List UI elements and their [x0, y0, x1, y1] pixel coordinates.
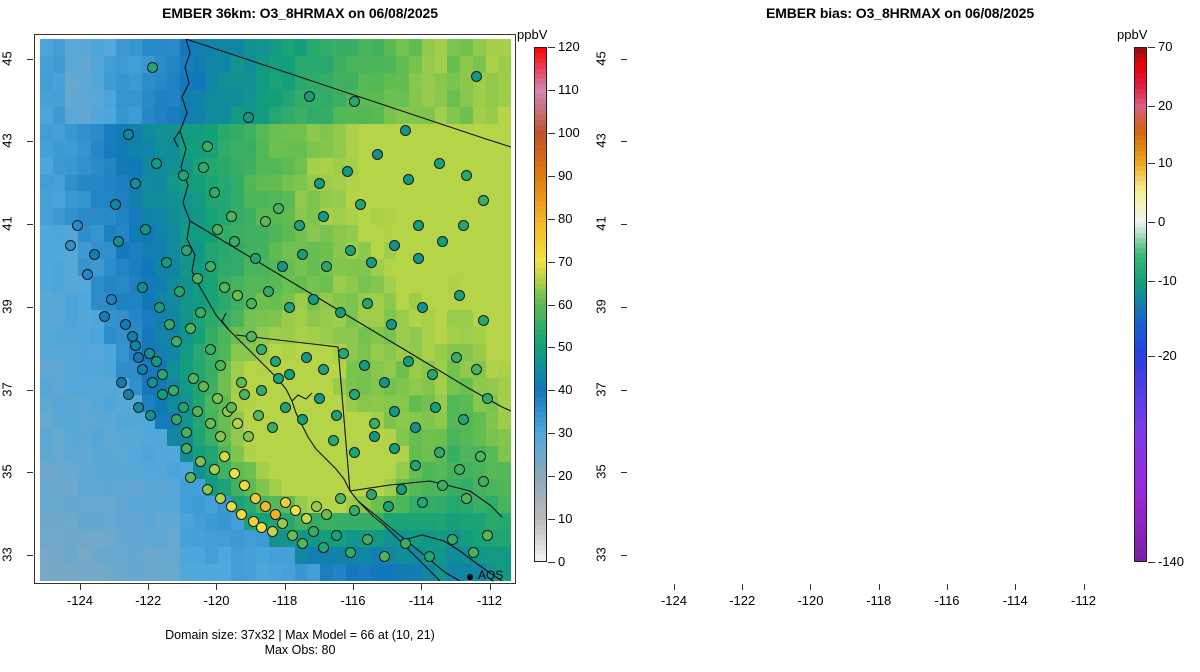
aqs-station-dot	[123, 129, 134, 140]
y-axis-tick	[621, 224, 627, 225]
x-axis-tick	[1084, 584, 1085, 590]
aqs-station-dot	[437, 236, 448, 247]
colorbar-gradient-bias	[1135, 48, 1146, 561]
aqs-station-dot	[434, 158, 445, 169]
aqs-station-dot	[212, 224, 223, 235]
colorbar-unit-model: ppbV	[517, 27, 547, 42]
aqs-station-dot	[219, 282, 230, 293]
aqs-station-dot	[106, 294, 117, 305]
aqs-station-dot	[349, 96, 360, 107]
colorbar-label: 50	[558, 339, 572, 354]
aqs-station-dot	[205, 344, 216, 355]
aqs-station-dot	[458, 220, 469, 231]
aqs-station-dot	[246, 298, 257, 309]
x-axis-label: -116	[323, 593, 383, 608]
aqs-station-dot	[116, 377, 127, 388]
aqs-station-dot	[379, 377, 390, 388]
colorbar-label: 70	[1158, 39, 1172, 54]
aqs-station-dot	[151, 158, 162, 169]
colorbar-tick	[548, 476, 555, 477]
aqs-station-dot	[454, 290, 465, 301]
aqs-station-dot	[154, 302, 165, 313]
colorbar-label: 10	[558, 511, 572, 526]
x-axis-label: -116	[917, 593, 977, 608]
y-axis-tick	[27, 224, 33, 225]
colorbar-tick	[1148, 222, 1155, 223]
colorbar-label: -10	[1158, 273, 1177, 288]
colorbar-label: 60	[558, 297, 572, 312]
y-axis-tick	[27, 472, 33, 473]
aqs-station-dot	[349, 447, 360, 458]
aqs-station-dot	[304, 91, 315, 102]
y-axis-tick	[27, 390, 33, 391]
aqs-station-dot	[400, 538, 411, 549]
aqs-station-dot	[120, 319, 131, 330]
aqs-station-dot	[410, 460, 421, 471]
caption-model-line2: Max Obs: 80	[0, 643, 600, 658]
y-axis-tick	[621, 307, 627, 308]
aqs-station-dot	[475, 451, 486, 462]
aqs-station-dot	[403, 174, 414, 185]
aqs-station-dot	[192, 406, 203, 417]
aqs-station-dot	[461, 493, 472, 504]
y-axis-label: 33	[0, 537, 15, 573]
colorbar-segment	[1135, 555, 1146, 560]
aqs-station-dot	[413, 220, 424, 231]
aqs-station-dot	[212, 393, 223, 404]
aqs-station-dot	[277, 518, 288, 529]
caption-model-line1: Domain size: 37x32 | Max Model = 66 at (…	[0, 628, 600, 643]
x-axis-label: -120	[186, 593, 246, 608]
aqs-station-dot	[369, 418, 380, 429]
colorbar-tick	[548, 176, 555, 177]
x-axis-tick	[421, 584, 422, 590]
aqs-station-dot	[137, 282, 148, 293]
aqs-station-dot	[174, 286, 185, 297]
aqs-station-dot	[369, 431, 380, 442]
colorbar-label: 120	[558, 39, 580, 54]
aqs-station-dot	[181, 245, 192, 256]
aqs-station-dot	[294, 220, 305, 231]
x-axis-label: -124	[644, 593, 704, 608]
aqs-station-dot	[308, 294, 319, 305]
aqs-station-dot	[331, 530, 342, 541]
x-axis-tick	[353, 584, 354, 590]
aqs-station-dot	[82, 269, 93, 280]
y-axis-label: 43	[0, 123, 15, 159]
colorbar-tick	[548, 305, 555, 306]
aqs-station-dot	[267, 526, 278, 537]
aqs-station-dot	[99, 311, 110, 322]
aqs-station-dot	[318, 211, 329, 222]
x-axis-label: -122	[712, 593, 772, 608]
panel-model: EMBER 36km: O3_8HRMAX on 06/08/2025	[0, 0, 600, 672]
aqs-station-dot	[181, 443, 192, 454]
aqs-station-dot	[198, 162, 209, 173]
aqs-station-dot	[417, 497, 428, 508]
x-axis-label: -118	[255, 593, 315, 608]
aqs-legend-label-model: AQS	[478, 568, 503, 582]
aqs-station-dot	[345, 547, 356, 558]
colorbar-tick	[548, 133, 555, 134]
aqs-station-dot	[311, 501, 322, 512]
aqs-station-dot	[458, 414, 469, 425]
colorbar-label: 80	[558, 211, 572, 226]
colorbar-tick	[548, 433, 555, 434]
aqs-station-dot	[205, 418, 216, 429]
aqs-station-dot	[243, 431, 254, 442]
aqs-station-dot	[437, 480, 448, 491]
aqs-station-dot	[471, 71, 482, 82]
y-axis-tick	[621, 390, 627, 391]
aqs-station-dot	[219, 451, 230, 462]
aqs-station-dot	[277, 261, 288, 272]
aqs-station-dot	[130, 178, 141, 189]
aqs-station-dot	[267, 422, 278, 433]
aqs-station-dot	[260, 216, 271, 227]
aqs-station-dot	[389, 443, 400, 454]
aqs-station-dot	[342, 166, 353, 177]
aqs-station-dot	[226, 211, 237, 222]
aqs-station-dot	[314, 178, 325, 189]
aqs-station-dot	[181, 427, 192, 438]
aqs-station-dot	[215, 493, 226, 504]
aqs-station-dot	[243, 112, 254, 123]
aqs-station-dot	[239, 480, 250, 491]
aqs-station-dot	[195, 456, 206, 467]
x-axis-label: -114	[391, 593, 451, 608]
colorbar-label: 110	[558, 82, 579, 97]
aqs-station-dot	[157, 369, 168, 380]
colorbar-tick	[548, 262, 555, 263]
aqs-station-dot	[226, 402, 237, 413]
aqs-station-dot	[110, 199, 121, 210]
y-axis-label: 35	[594, 454, 609, 490]
y-axis-label: 43	[594, 123, 609, 159]
aqs-station-dot	[215, 360, 226, 371]
aqs-station-dot	[290, 505, 301, 516]
aqs-station-dot	[280, 497, 291, 508]
aqs-station-dot	[301, 352, 312, 363]
aqs-station-dot	[345, 245, 356, 256]
aqs-station-dot	[287, 530, 298, 541]
colorbar-tick	[1148, 356, 1155, 357]
y-axis-label: 35	[0, 454, 15, 490]
aqs-station-dot	[157, 389, 168, 400]
aqs-station-dot	[127, 331, 138, 342]
y-axis-tick	[27, 59, 33, 60]
colorbar-label: 20	[558, 468, 572, 483]
aqs-station-dot	[427, 369, 438, 380]
aqs-station-dot	[403, 356, 414, 367]
aqs-station-dot	[413, 253, 424, 264]
aqs-station-dot	[297, 538, 308, 549]
aqs-station-dot	[280, 402, 291, 413]
colorbar-label: 10	[1158, 155, 1172, 170]
aqs-station-dot	[195, 307, 206, 318]
aqs-station-dot	[349, 389, 360, 400]
aqs-station-dot	[478, 315, 489, 326]
colorbar-tick	[548, 90, 555, 91]
aqs-station-dot	[188, 373, 199, 384]
aqs-station-dot	[236, 509, 247, 520]
y-axis-tick	[621, 59, 627, 60]
y-axis-label: 41	[0, 206, 15, 242]
aqs-station-dot	[232, 290, 243, 301]
aqs-observation-dots-model	[40, 39, 511, 581]
x-axis-label: -120	[780, 593, 840, 608]
aqs-station-dot	[417, 302, 428, 313]
colorbar-label: 70	[558, 254, 572, 269]
x-axis-tick	[879, 584, 880, 590]
panel-title-bias: EMBER bias: O3_8HRMAX on 06/08/2025	[600, 5, 1200, 21]
aqs-station-dot	[430, 402, 441, 413]
aqs-station-dot	[209, 187, 220, 198]
aqs-station-dot	[226, 501, 237, 512]
aqs-station-dot	[386, 319, 397, 330]
aqs-station-dot	[328, 435, 339, 446]
aqs-station-dot	[253, 410, 264, 421]
colorbar-unit-bias: ppbV	[1117, 27, 1147, 42]
aqs-station-dot	[284, 369, 295, 380]
aqs-station-dot	[256, 344, 267, 355]
aqs-station-dot	[331, 410, 342, 421]
y-axis-tick	[27, 555, 33, 556]
x-axis-tick	[216, 584, 217, 590]
y-axis-tick	[27, 141, 33, 142]
aqs-station-dot	[205, 261, 216, 272]
aqs-station-dot	[400, 125, 411, 136]
panel-bias: EMBER bias: O3_8HRMAX on 06/08/2025	[600, 0, 1200, 672]
x-axis-label: -112	[460, 593, 520, 608]
aqs-station-dot	[270, 356, 281, 367]
aqs-station-dot	[318, 364, 329, 375]
aqs-station-dot	[260, 501, 271, 512]
colorbar-segment	[535, 555, 546, 560]
aqs-station-dot	[178, 402, 189, 413]
aqs-station-dot	[232, 418, 243, 429]
x-axis-tick	[810, 584, 811, 590]
aqs-station-dot	[482, 393, 493, 404]
aqs-station-dot	[133, 352, 144, 363]
aqs-station-dot	[246, 331, 257, 342]
x-axis-label: -118	[849, 593, 909, 608]
aqs-station-dot	[335, 307, 346, 318]
aqs-station-dot	[202, 141, 213, 152]
x-axis-tick	[947, 584, 948, 590]
aqs-station-dot	[198, 381, 209, 392]
aqs-station-dot	[468, 547, 479, 558]
aqs-station-dot	[123, 389, 134, 400]
aqs-station-dot	[482, 530, 493, 541]
aqs-station-dot	[451, 352, 462, 363]
aqs-station-dot	[185, 472, 196, 483]
aqs-station-dot	[318, 542, 329, 553]
aqs-station-dot	[178, 170, 189, 181]
y-axis-label: 41	[594, 206, 609, 242]
aqs-station-dot	[256, 522, 267, 533]
y-axis-label: 37	[0, 371, 15, 407]
aqs-station-dot	[366, 257, 377, 268]
aqs-station-dot	[297, 414, 308, 425]
aqs-station-dot	[389, 406, 400, 417]
y-axis-label: 45	[594, 40, 609, 76]
aqs-station-dot	[185, 323, 196, 334]
aqs-station-dot	[424, 551, 435, 562]
aqs-station-dot	[383, 501, 394, 512]
y-axis-label: 39	[594, 288, 609, 324]
map-plot-model: AQS	[34, 34, 516, 584]
y-axis-tick	[621, 472, 627, 473]
x-axis-label: -112	[1054, 593, 1114, 608]
aqs-station-dot	[113, 236, 124, 247]
x-axis-tick	[1015, 584, 1016, 590]
aqs-station-dot	[321, 509, 332, 520]
colorbar-tick	[548, 219, 555, 220]
aqs-station-dot	[209, 464, 220, 475]
aqs-station-dot	[396, 484, 407, 495]
aqs-station-dot	[236, 377, 247, 388]
aqs-station-dot	[349, 505, 360, 516]
colorbar-label: 30	[558, 425, 572, 440]
aqs-station-dot	[239, 389, 250, 400]
y-axis-label: 45	[0, 40, 15, 76]
aqs-station-dot	[366, 489, 377, 500]
aqs-station-dot	[478, 476, 489, 487]
colorbar-tick	[548, 519, 555, 520]
aqs-station-dot	[471, 364, 482, 375]
aqs-station-dot	[202, 484, 213, 495]
colorbar-label: 100	[558, 125, 580, 140]
caption-model: Domain size: 37x32 | Max Model = 66 at (…	[0, 628, 600, 658]
colorbar-label: 20	[1158, 98, 1172, 113]
aqs-station-dot	[256, 385, 267, 396]
aqs-station-dot	[164, 319, 175, 330]
aqs-station-dot	[215, 431, 226, 442]
aqs-station-dot	[410, 422, 421, 433]
colorbar-label: -20	[1158, 348, 1177, 363]
x-axis-tick	[674, 584, 675, 590]
colorbar-tick	[1148, 163, 1155, 164]
aqs-station-dot	[263, 286, 274, 297]
aqs-station-dot	[379, 551, 390, 562]
aqs-station-dot	[145, 410, 156, 421]
aqs-station-dot	[192, 273, 203, 284]
y-axis-label: 33	[594, 537, 609, 573]
aqs-station-dot	[133, 402, 144, 413]
colorbar-tick	[1148, 562, 1155, 563]
colorbar-tick	[548, 347, 555, 348]
y-axis-label: 37	[594, 371, 609, 407]
aqs-station-dot	[89, 249, 100, 260]
aqs-station-dot	[72, 220, 83, 231]
y-axis-tick	[621, 555, 627, 556]
aqs-station-dot	[355, 199, 366, 210]
aqs-station-dot	[151, 356, 162, 367]
aqs-station-dot	[359, 360, 370, 371]
aqs-station-dot	[140, 224, 151, 235]
colorbar-tick	[548, 390, 555, 391]
y-axis-label: 39	[0, 288, 15, 324]
aqs-station-dot	[314, 393, 325, 404]
aqs-station-dot	[65, 240, 76, 251]
aqs-station-dot	[478, 195, 489, 206]
colorbar-label: 90	[558, 168, 572, 183]
colorbar-label: 0	[558, 554, 565, 569]
aqs-station-dot	[250, 493, 261, 504]
aqs-station-dot	[308, 526, 319, 537]
aqs-station-dot	[161, 257, 172, 268]
aqs-station-dot	[168, 385, 179, 396]
model-raster	[40, 39, 511, 581]
x-axis-tick	[148, 584, 149, 590]
colorbar-label: -140	[1158, 554, 1184, 569]
aqs-station-dot	[335, 493, 346, 504]
aqs-station-dot	[273, 203, 284, 214]
aqs-station-dot	[461, 170, 472, 181]
aqs-station-dot	[147, 377, 158, 388]
aqs-station-dot	[389, 240, 400, 251]
y-axis-tick	[27, 307, 33, 308]
colorbar-gradient-model	[535, 48, 546, 561]
colorbar-tick	[548, 47, 555, 48]
x-axis-tick	[742, 584, 743, 590]
aqs-station-dot	[321, 261, 332, 272]
aqs-station-dot	[434, 447, 445, 458]
aqs-station-dot	[447, 534, 458, 545]
aqs-station-dot	[147, 62, 158, 73]
aqs-station-dot	[338, 348, 349, 359]
aqs-station-dot	[454, 464, 465, 475]
colorbar-label: 40	[558, 382, 572, 397]
x-axis-tick	[285, 584, 286, 590]
aqs-station-dot	[297, 249, 308, 260]
x-axis-tick	[490, 584, 491, 590]
aqs-station-dot	[229, 236, 240, 247]
aqs-station-dot	[301, 513, 312, 524]
colorbar-model	[534, 47, 547, 562]
colorbar-label: 0	[1158, 214, 1165, 229]
colorbar-tick	[548, 562, 555, 563]
colorbar-tick	[1148, 47, 1155, 48]
aqs-station-dot	[362, 534, 373, 545]
x-axis-tick	[80, 584, 81, 590]
x-axis-label: -122	[118, 593, 178, 608]
x-axis-label: -124	[50, 593, 110, 608]
colorbar-tick	[1148, 106, 1155, 107]
figure-canvas: EMBER 36km: O3_8HRMAX on 06/08/2025	[0, 0, 1200, 672]
y-axis-tick	[621, 141, 627, 142]
colorbar-bias	[1134, 47, 1147, 562]
aqs-station-dot	[171, 414, 182, 425]
aqs-station-dot	[171, 336, 182, 347]
aqs-station-dot	[250, 253, 261, 264]
aqs-station-dot	[372, 149, 383, 160]
aqs-station-dot	[362, 298, 373, 309]
aqs-station-dot	[137, 364, 148, 375]
aqs-station-dot	[284, 302, 295, 313]
x-axis-label: -114	[985, 593, 1045, 608]
aqs-station-dot	[273, 373, 284, 384]
aqs-legend-marker-model	[467, 574, 473, 580]
aqs-station-dot	[229, 468, 240, 479]
panel-title-model: EMBER 36km: O3_8HRMAX on 06/08/2025	[0, 5, 600, 21]
colorbar-tick	[1148, 281, 1155, 282]
